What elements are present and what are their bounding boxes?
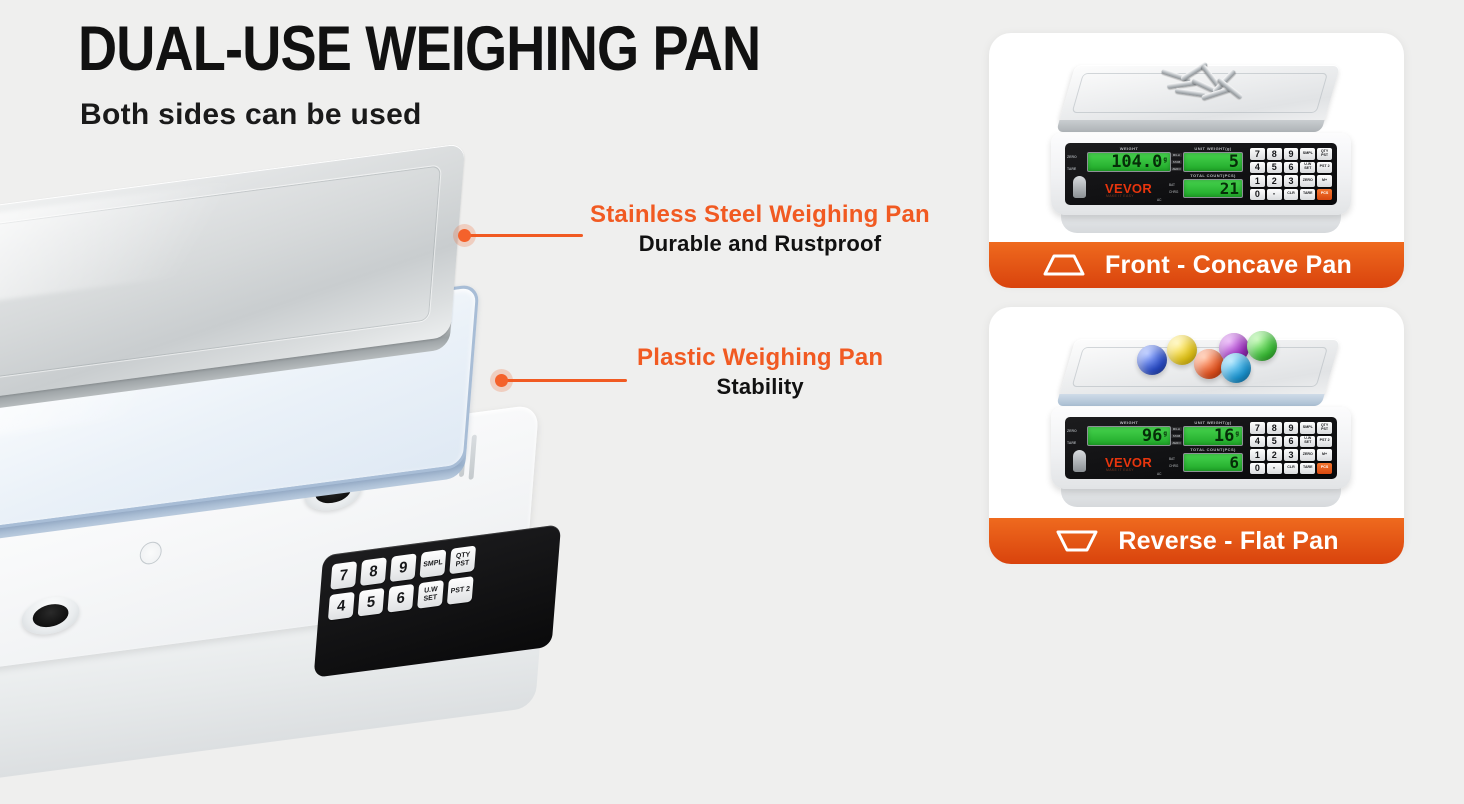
key-0[interactable]: 0 bbox=[1250, 189, 1265, 201]
status-ac: AC bbox=[1157, 472, 1161, 476]
side-label-tare: TARE bbox=[1067, 167, 1076, 171]
key-smpl[interactable]: SMPL bbox=[1300, 148, 1315, 160]
control-panel: WEIGHT UNIT WEIGHT(g) TOTAL COUNT(PCS) 9… bbox=[1065, 417, 1337, 479]
keypad[interactable]: 7 8 9 SMPL QTY PST 4 5 6 U.W SET PST 2 1… bbox=[1250, 422, 1332, 474]
indicator-stab: STAB bbox=[1171, 434, 1182, 438]
key-9[interactable]: 9 bbox=[1284, 422, 1299, 434]
blue-ball bbox=[1137, 345, 1167, 375]
weight-label: WEIGHT bbox=[1087, 420, 1171, 425]
key-zero[interactable]: ZERO bbox=[1300, 449, 1315, 461]
callout-leader-line bbox=[505, 379, 627, 382]
key-tare[interactable]: TARE bbox=[1300, 463, 1315, 475]
side-label-zero: ZERO bbox=[1067, 429, 1077, 433]
weight-unit: g bbox=[1163, 430, 1167, 437]
indicator-milli: MILLI bbox=[1171, 153, 1182, 157]
indicator-milli: MILLI bbox=[1171, 427, 1182, 431]
base-key[interactable]: 8 bbox=[360, 557, 387, 586]
control-panel: WEIGHT UNIT WEIGHT(g) TOTAL COUNT(PCS) 1… bbox=[1065, 143, 1337, 205]
key-7[interactable]: 7 bbox=[1250, 148, 1265, 160]
callout-title: Stainless Steel Weighing Pan bbox=[590, 200, 930, 229]
key-6[interactable]: 6 bbox=[1284, 162, 1299, 174]
indicator-zero: ZERO bbox=[1171, 441, 1182, 445]
status-chrg: CHRG bbox=[1169, 190, 1178, 194]
flat-pan-icon bbox=[1054, 528, 1100, 554]
key-5[interactable]: 5 bbox=[1267, 162, 1282, 174]
unit-weight-value: 5 bbox=[1229, 152, 1239, 172]
unit-weight-value: 16 bbox=[1214, 426, 1234, 446]
screws-group bbox=[1157, 69, 1249, 99]
brand-tagline: MAKE IT EASY bbox=[1106, 194, 1134, 198]
key-7[interactable]: 7 bbox=[1250, 422, 1265, 434]
weight-label: WEIGHT bbox=[1087, 146, 1171, 151]
key-pst-2[interactable]: PST 2 bbox=[1317, 162, 1332, 174]
key-8[interactable]: 8 bbox=[1267, 422, 1282, 434]
green-ball bbox=[1247, 331, 1277, 361]
key-1[interactable]: 1 bbox=[1250, 449, 1265, 461]
key-clear[interactable]: CLR bbox=[1284, 189, 1299, 201]
unit-weight-label: UNIT WEIGHT(g) bbox=[1183, 420, 1243, 425]
key-clear[interactable]: CLR bbox=[1284, 463, 1299, 475]
key-4[interactable]: 4 bbox=[1250, 436, 1265, 448]
callout-subtitle: Stability bbox=[637, 372, 883, 402]
total-count-label: TOTAL COUNT(PCS) bbox=[1183, 173, 1243, 178]
total-count-display: 21 bbox=[1183, 179, 1243, 198]
key-memory-plus[interactable]: M+ bbox=[1317, 175, 1332, 187]
key-decimal[interactable]: · bbox=[1267, 463, 1282, 475]
caption-reverse-flat-pan: Reverse - Flat Pan bbox=[989, 518, 1404, 564]
base-key[interactable]: QTY PST bbox=[449, 545, 476, 574]
unit-weight-label: UNIT WEIGHT(g) bbox=[1183, 146, 1243, 151]
caption-front-concave-pan: Front - Concave Pan bbox=[989, 242, 1404, 288]
side-label-zero: ZERO bbox=[1067, 155, 1077, 159]
status-ac: AC bbox=[1157, 198, 1161, 202]
base-key[interactable]: SMPL bbox=[420, 549, 447, 578]
base-key[interactable]: 6 bbox=[387, 584, 414, 613]
caption-text: Reverse - Flat Pan bbox=[1118, 527, 1338, 556]
callout-marker-dot bbox=[495, 374, 508, 387]
total-count-value: 6 bbox=[1229, 453, 1239, 472]
callout-plastic: Plastic Weighing Pan Stability bbox=[637, 343, 883, 402]
power-button[interactable] bbox=[1073, 176, 1086, 198]
callout-leader-line bbox=[468, 234, 583, 237]
unit-weight-unit: g bbox=[1235, 430, 1239, 437]
key-8[interactable]: 8 bbox=[1267, 148, 1282, 160]
page-subtitle: Both sides can be used bbox=[80, 98, 422, 132]
status-bat: BAT bbox=[1169, 457, 1175, 461]
base-key[interactable]: 7 bbox=[330, 561, 357, 590]
key-tare[interactable]: TARE bbox=[1300, 189, 1315, 201]
key-pcs[interactable]: PCS bbox=[1317, 463, 1332, 475]
base-key[interactable]: PST 2 bbox=[447, 576, 474, 605]
key-2[interactable]: 2 bbox=[1267, 175, 1282, 187]
status-bat: BAT bbox=[1169, 183, 1175, 187]
key-2[interactable]: 2 bbox=[1267, 449, 1282, 461]
callout-marker-dot bbox=[458, 229, 471, 242]
callout-subtitle: Durable and Rustproof bbox=[590, 229, 930, 259]
base-emboss-icon bbox=[139, 540, 163, 565]
key-smpl[interactable]: SMPL bbox=[1300, 422, 1315, 434]
weight-display: 96 g bbox=[1087, 426, 1171, 446]
pan-post bbox=[20, 594, 80, 638]
scale-body: WEIGHT UNIT WEIGHT(g) TOTAL COUNT(PCS) 1… bbox=[1051, 133, 1351, 215]
key-3[interactable]: 3 bbox=[1284, 175, 1299, 187]
yellow-ball bbox=[1167, 335, 1197, 365]
cyan-ball bbox=[1221, 353, 1251, 383]
key-qty-pst[interactable]: QTY PST bbox=[1317, 422, 1332, 434]
key-pst-2[interactable]: PST 2 bbox=[1317, 436, 1332, 448]
key-1[interactable]: 1 bbox=[1250, 175, 1265, 187]
scale-body: WEIGHT UNIT WEIGHT(g) TOTAL COUNT(PCS) 9… bbox=[1051, 407, 1351, 489]
weight-unit: g bbox=[1163, 156, 1167, 163]
key-0[interactable]: 0 bbox=[1250, 463, 1265, 475]
page-title: DUAL-USE WEIGHING PAN bbox=[78, 18, 760, 81]
brand-tagline: MAKE IT EASY bbox=[1106, 468, 1134, 472]
indicator-stab: STAB bbox=[1171, 160, 1182, 164]
key-memory-plus[interactable]: M+ bbox=[1317, 449, 1332, 461]
key-qty-pst[interactable]: QTY PST bbox=[1317, 148, 1332, 160]
weight-display: 104.0 g bbox=[1087, 152, 1171, 172]
indicator-zero: ZERO bbox=[1171, 167, 1182, 171]
total-count-label: TOTAL COUNT(PCS) bbox=[1183, 447, 1243, 452]
unit-weight-display: 5 bbox=[1183, 152, 1243, 172]
base-key[interactable]: 5 bbox=[358, 588, 385, 617]
key-decimal[interactable]: · bbox=[1267, 189, 1282, 201]
total-count-value: 21 bbox=[1220, 179, 1239, 198]
key-5[interactable]: 5 bbox=[1267, 436, 1282, 448]
key-9[interactable]: 9 bbox=[1284, 148, 1299, 160]
keypad[interactable]: 7 8 9 SMPL QTY PST 4 5 6 U.W SET PST 2 1… bbox=[1250, 148, 1332, 200]
key-uw-set[interactable]: U.W SET bbox=[1300, 162, 1315, 174]
caption-text: Front - Concave Pan bbox=[1105, 251, 1352, 280]
key-pcs[interactable]: PCS bbox=[1317, 189, 1332, 201]
total-count-display: 6 bbox=[1183, 453, 1243, 472]
weight-value: 96 bbox=[1142, 426, 1162, 446]
key-3[interactable]: 3 bbox=[1284, 449, 1299, 461]
weight-value: 104.0 bbox=[1111, 152, 1162, 172]
key-4[interactable]: 4 bbox=[1250, 162, 1265, 174]
key-zero[interactable]: ZERO bbox=[1300, 175, 1315, 187]
callout-stainless-steel: Stainless Steel Weighing Pan Durable and… bbox=[590, 200, 930, 259]
key-uw-set[interactable]: U.W SET bbox=[1300, 436, 1315, 448]
status-chrg: CHRG bbox=[1169, 464, 1178, 468]
unit-weight-display: 16 g bbox=[1183, 426, 1243, 446]
concave-pan-icon bbox=[1041, 252, 1087, 278]
key-6[interactable]: 6 bbox=[1284, 436, 1299, 448]
base-key[interactable]: 4 bbox=[328, 592, 355, 621]
side-label-tare: TARE bbox=[1067, 441, 1076, 445]
callout-title: Plastic Weighing Pan bbox=[637, 343, 883, 372]
power-button[interactable] bbox=[1073, 450, 1086, 472]
base-key[interactable]: U.W SET bbox=[417, 580, 444, 609]
base-key[interactable]: 9 bbox=[390, 553, 417, 582]
